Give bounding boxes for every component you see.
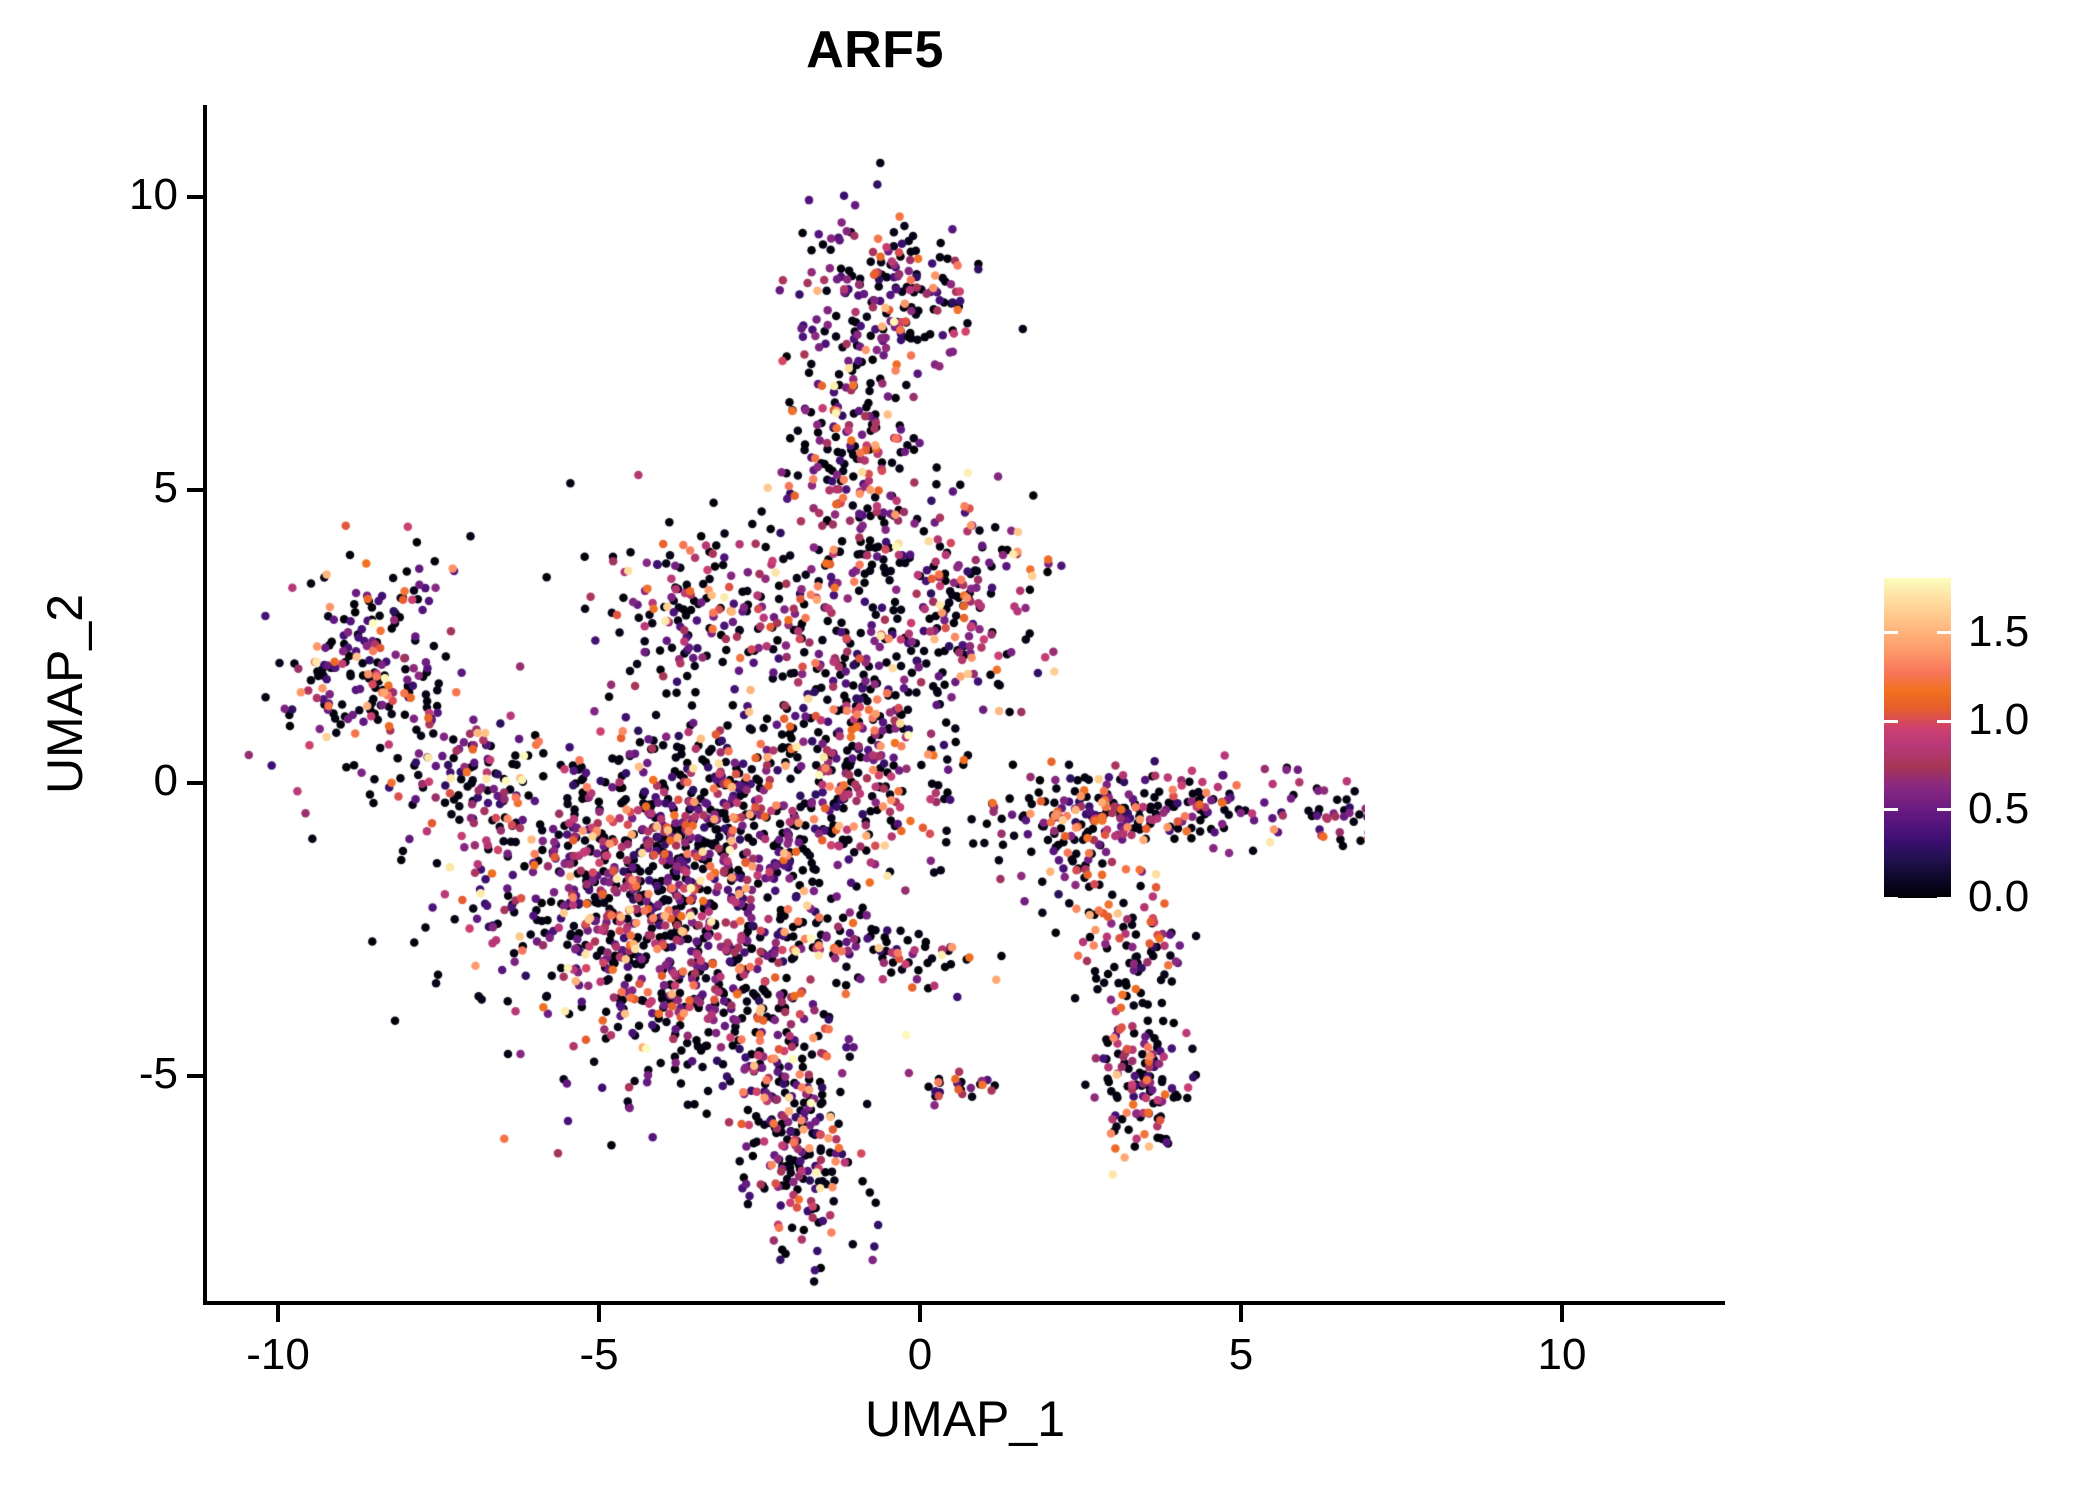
y-tick-label: 10 [18, 173, 178, 217]
legend-tick-mark [1937, 720, 1951, 723]
page-title: ARF5 [0, 24, 1750, 76]
legend-tick-mark [1884, 808, 1898, 811]
legend-tick-label: 0.0 [1968, 875, 2029, 919]
x-tick-mark [1560, 1305, 1564, 1322]
x-tick-mark [276, 1305, 280, 1322]
legend-tick-mark [1937, 897, 1951, 900]
x-tick-label: 10 [1482, 1330, 1642, 1380]
x-tick-mark [918, 1305, 922, 1322]
scatter-plot-canvas [205, 105, 1365, 1303]
x-tick-label: -5 [519, 1330, 679, 1380]
legend-tick-mark [1937, 808, 1951, 811]
x-tick-label: 5 [1161, 1330, 1321, 1380]
x-axis-title: UMAP_1 [205, 1390, 1725, 1448]
x-axis-line [205, 1301, 1725, 1305]
y-axis-title: UMAP_2 [36, 394, 94, 994]
legend-tick-mark [1884, 720, 1898, 723]
legend-tick-mark [1937, 631, 1951, 634]
y-axis-line [203, 105, 207, 1305]
y-tick-label: -5 [18, 1052, 178, 1096]
legend-tick-label: 1.5 [1968, 610, 2029, 654]
y-tick-mark [187, 781, 204, 785]
x-tick-label: 0 [840, 1330, 1000, 1380]
legend-tick-mark [1884, 897, 1898, 900]
color-legend: 1.51.00.50.0 [1884, 578, 2084, 898]
legend-tick-label: 1.0 [1968, 698, 2029, 742]
figure-root: ARF5 -50510 -10-50510 UMAP_1 UMAP_2 1.51… [0, 0, 2100, 1500]
y-tick-mark [187, 1074, 204, 1078]
x-tick-mark [1239, 1305, 1243, 1322]
legend-tick-label: 0.5 [1968, 787, 2029, 831]
scatter-panel [205, 105, 1365, 1303]
color-legend-bar [1884, 578, 1951, 898]
x-tick-mark [597, 1305, 601, 1322]
x-tick-label: -10 [198, 1330, 358, 1380]
y-tick-mark [187, 195, 204, 199]
y-tick-mark [187, 488, 204, 492]
legend-tick-mark [1884, 631, 1898, 634]
